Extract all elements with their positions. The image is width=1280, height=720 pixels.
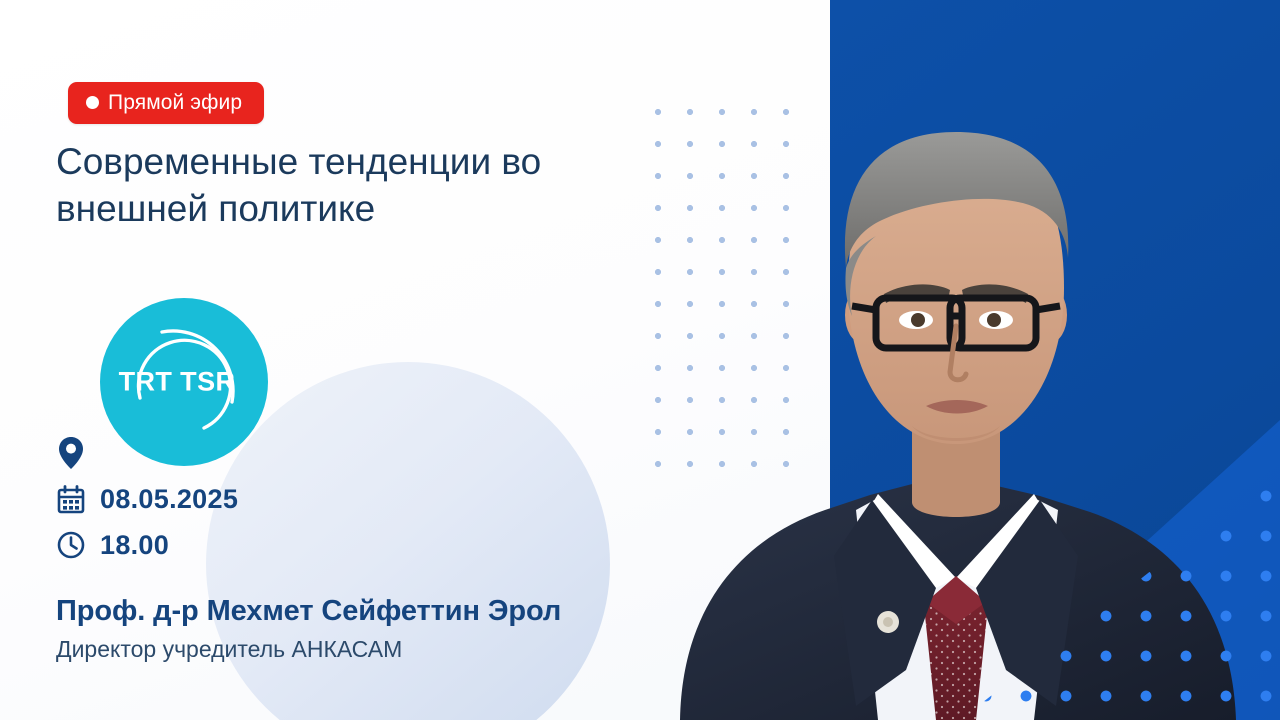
- speaker-name: Проф. д-р Мехмет Сейфеттин Эрол: [56, 594, 616, 630]
- clock-icon: [56, 531, 86, 559]
- live-dot-icon: [86, 96, 99, 109]
- speaker-block: Проф. д-р Мехмет Сейфеттин Эрол Директор…: [56, 594, 616, 665]
- promo-banner: Прямой эфир Современные тенденции во вне…: [0, 0, 1280, 720]
- meta-row-time: 18.00: [56, 522, 238, 568]
- speaker-role: Директор учредитель АНКАСАМ: [56, 635, 616, 665]
- calendar-icon: [56, 485, 86, 514]
- logo-text: TRT TSR: [100, 367, 268, 398]
- meta-time-value: 18.00: [100, 530, 169, 561]
- location-pin-icon: [56, 436, 86, 470]
- meta-row-date: 08.05.2025: [56, 476, 238, 522]
- meta-row-location: [56, 430, 238, 476]
- live-badge-label: Прямой эфир: [108, 92, 242, 113]
- event-meta: 08.05.2025 18.00: [56, 430, 238, 568]
- meta-date-value: 08.05.2025: [100, 484, 238, 515]
- live-badge: Прямой эфир: [68, 82, 264, 124]
- page-title: Современные тенденции во внешней политик…: [56, 138, 626, 233]
